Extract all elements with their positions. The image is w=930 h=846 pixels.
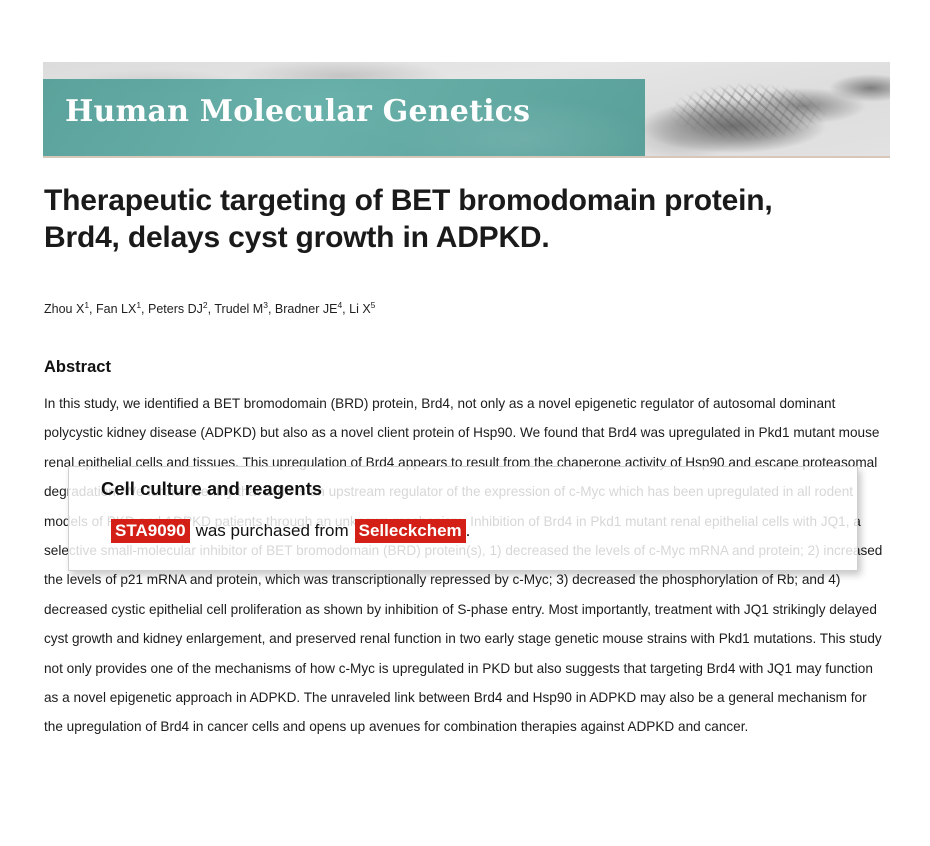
overlay-sentence-middle: was purchased from xyxy=(190,521,355,540)
document-page: Human Molecular Genetics Therapeutic tar… xyxy=(0,0,930,846)
author-affiliation-marker: 5 xyxy=(371,300,376,310)
author-item: Li X5 xyxy=(349,302,375,316)
author-affiliation-marker: 1 xyxy=(136,300,141,310)
highlight-reagent: STA9090 xyxy=(111,519,190,543)
journal-title: Human Molecular Genetics xyxy=(65,94,530,129)
article-title: Therapeutic targeting of BET bromodomain… xyxy=(44,182,844,256)
journal-banner: Human Molecular Genetics xyxy=(43,62,890,156)
overlay-sentence: STA9090was purchased fromSelleckchem. xyxy=(111,518,470,544)
author-affiliation-marker: 3 xyxy=(263,300,268,310)
overlay-sentence-period: . xyxy=(466,521,471,540)
overlay-section-heading: Cell culture and reagents xyxy=(101,478,322,500)
annotation-overlay-card: Cell culture and reagents STA9090was pur… xyxy=(68,466,858,571)
highlight-vendor: Selleckchem xyxy=(355,519,466,543)
author-item: Trudel M3, xyxy=(214,302,275,316)
author-item: Zhou X1, xyxy=(44,302,96,316)
author-affiliation-marker: 1 xyxy=(84,300,89,310)
banner-bottom-rule xyxy=(43,156,890,158)
author-item: Bradner JE4, xyxy=(275,302,349,316)
abstract-heading: Abstract xyxy=(44,358,111,377)
author-item: Peters DJ2, xyxy=(148,302,214,316)
author-list: Zhou X1, Fan LX1, Peters DJ2, Trudel M3,… xyxy=(44,300,375,316)
author-item: Fan LX1, xyxy=(96,302,148,316)
author-affiliation-marker: 2 xyxy=(203,300,208,310)
author-affiliation-marker: 4 xyxy=(337,300,342,310)
